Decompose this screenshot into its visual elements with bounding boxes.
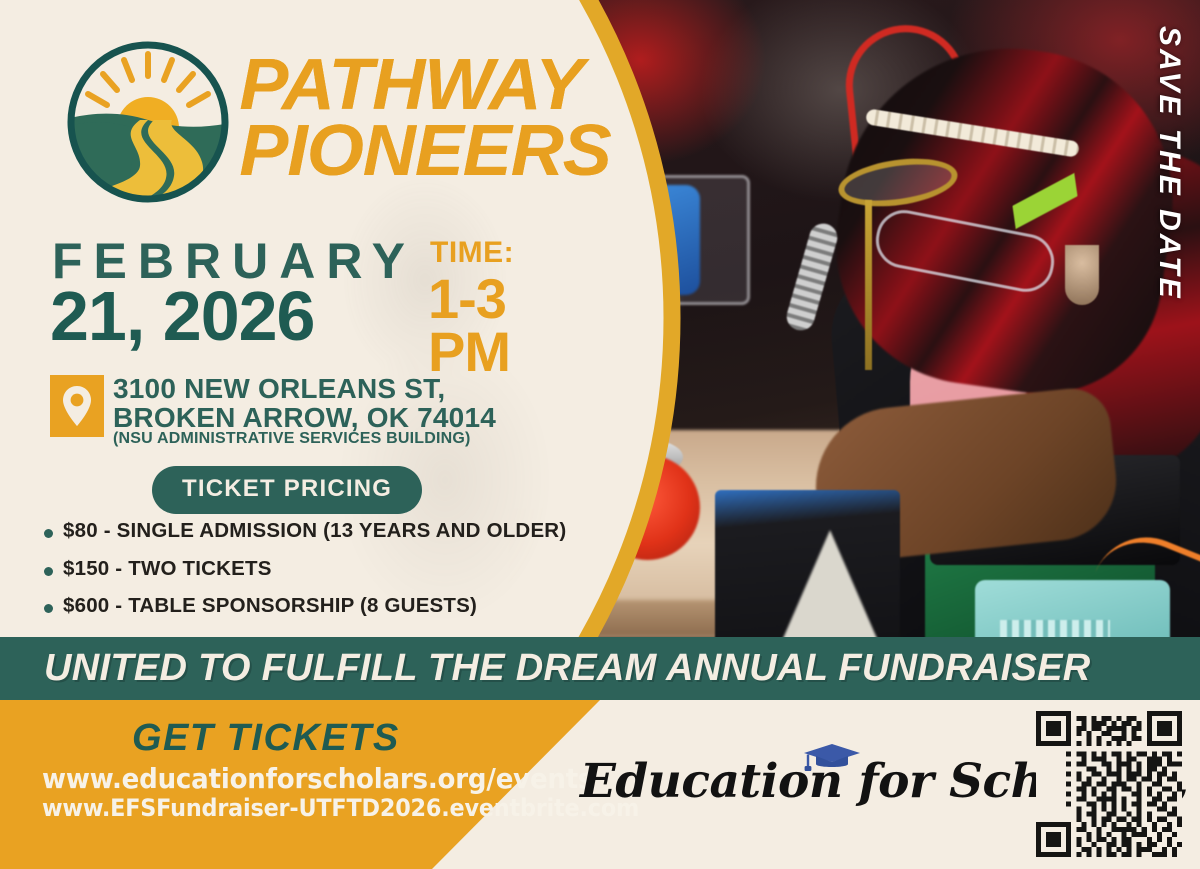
time-label: TIME: xyxy=(430,238,514,268)
teal-device-vents xyxy=(1000,620,1110,637)
event-venue: (NSU ADMINISTRATIVE SERVICES BUILDING) xyxy=(113,430,471,448)
event-time: 1-3 PM xyxy=(428,272,510,378)
address-line-2: BROKEN ARROW, OK 74014 xyxy=(113,403,496,432)
location-pin-badge xyxy=(50,375,104,437)
title-line-2: PIONEERS xyxy=(239,118,610,184)
ticket-pricing-heading: TICKET PRICING xyxy=(152,466,422,514)
address-line-1: 3100 NEW ORLEANS ST, xyxy=(113,374,496,403)
bullet-dot-icon xyxy=(44,529,53,538)
ticket-item-label: $600 - TABLE SPONSORSHIP (8 GUESTS) xyxy=(63,593,477,619)
sunrise-path-circle-logo xyxy=(62,36,234,208)
list-item: $600 - TABLE SPONSORSHIP (8 GUESTS) xyxy=(44,593,584,619)
event-day-year: 21, 2026 xyxy=(50,281,314,351)
secondary-url-link[interactable]: www.EFSFundraiser-UTFTD2026.eventbrite.c… xyxy=(42,794,639,822)
time-meridiem: PM xyxy=(428,325,510,378)
primary-url-link[interactable]: www.educationforscholars.org/events xyxy=(42,762,593,795)
list-item: $80 - SINGLE ADMISSION (13 YEARS AND OLD… xyxy=(44,518,584,544)
bullet-dot-icon xyxy=(44,567,53,576)
bullet-dot-icon xyxy=(44,604,53,613)
save-the-date-label: SAVE THE DATE xyxy=(1152,26,1186,301)
event-flyer: SAVE THE DATE xyxy=(0,0,1200,869)
helping-hands-pole xyxy=(865,200,872,370)
get-tickets-heading: GET TICKETS xyxy=(132,717,400,760)
earring xyxy=(1065,245,1099,305)
event-address: 3100 NEW ORLEANS ST, BROKEN ARROW, OK 74… xyxy=(113,374,496,432)
fundraiser-banner-text: UNITED TO FULFILL THE DREAM ANNUAL FUNDR… xyxy=(44,647,1091,690)
qr-code-icon[interactable] xyxy=(1036,711,1182,857)
list-item: $150 - TWO TICKETS xyxy=(44,556,584,582)
fundraiser-banner: UNITED TO FULFILL THE DREAM ANNUAL FUNDR… xyxy=(0,637,1200,700)
organization-logo: Education for Scholars, Inc. xyxy=(580,742,1010,826)
page-title: PATHWAY PIONEERS xyxy=(239,52,610,184)
white-triangle-prop xyxy=(778,530,882,637)
ticket-item-label: $80 - SINGLE ADMISSION (13 YEARS AND OLD… xyxy=(63,518,566,544)
ticket-pricing-list: $80 - SINGLE ADMISSION (13 YEARS AND OLD… xyxy=(44,518,584,631)
time-range: 1-3 xyxy=(428,272,510,325)
ticket-item-label: $150 - TWO TICKETS xyxy=(63,556,272,582)
location-pin-icon xyxy=(62,385,92,427)
